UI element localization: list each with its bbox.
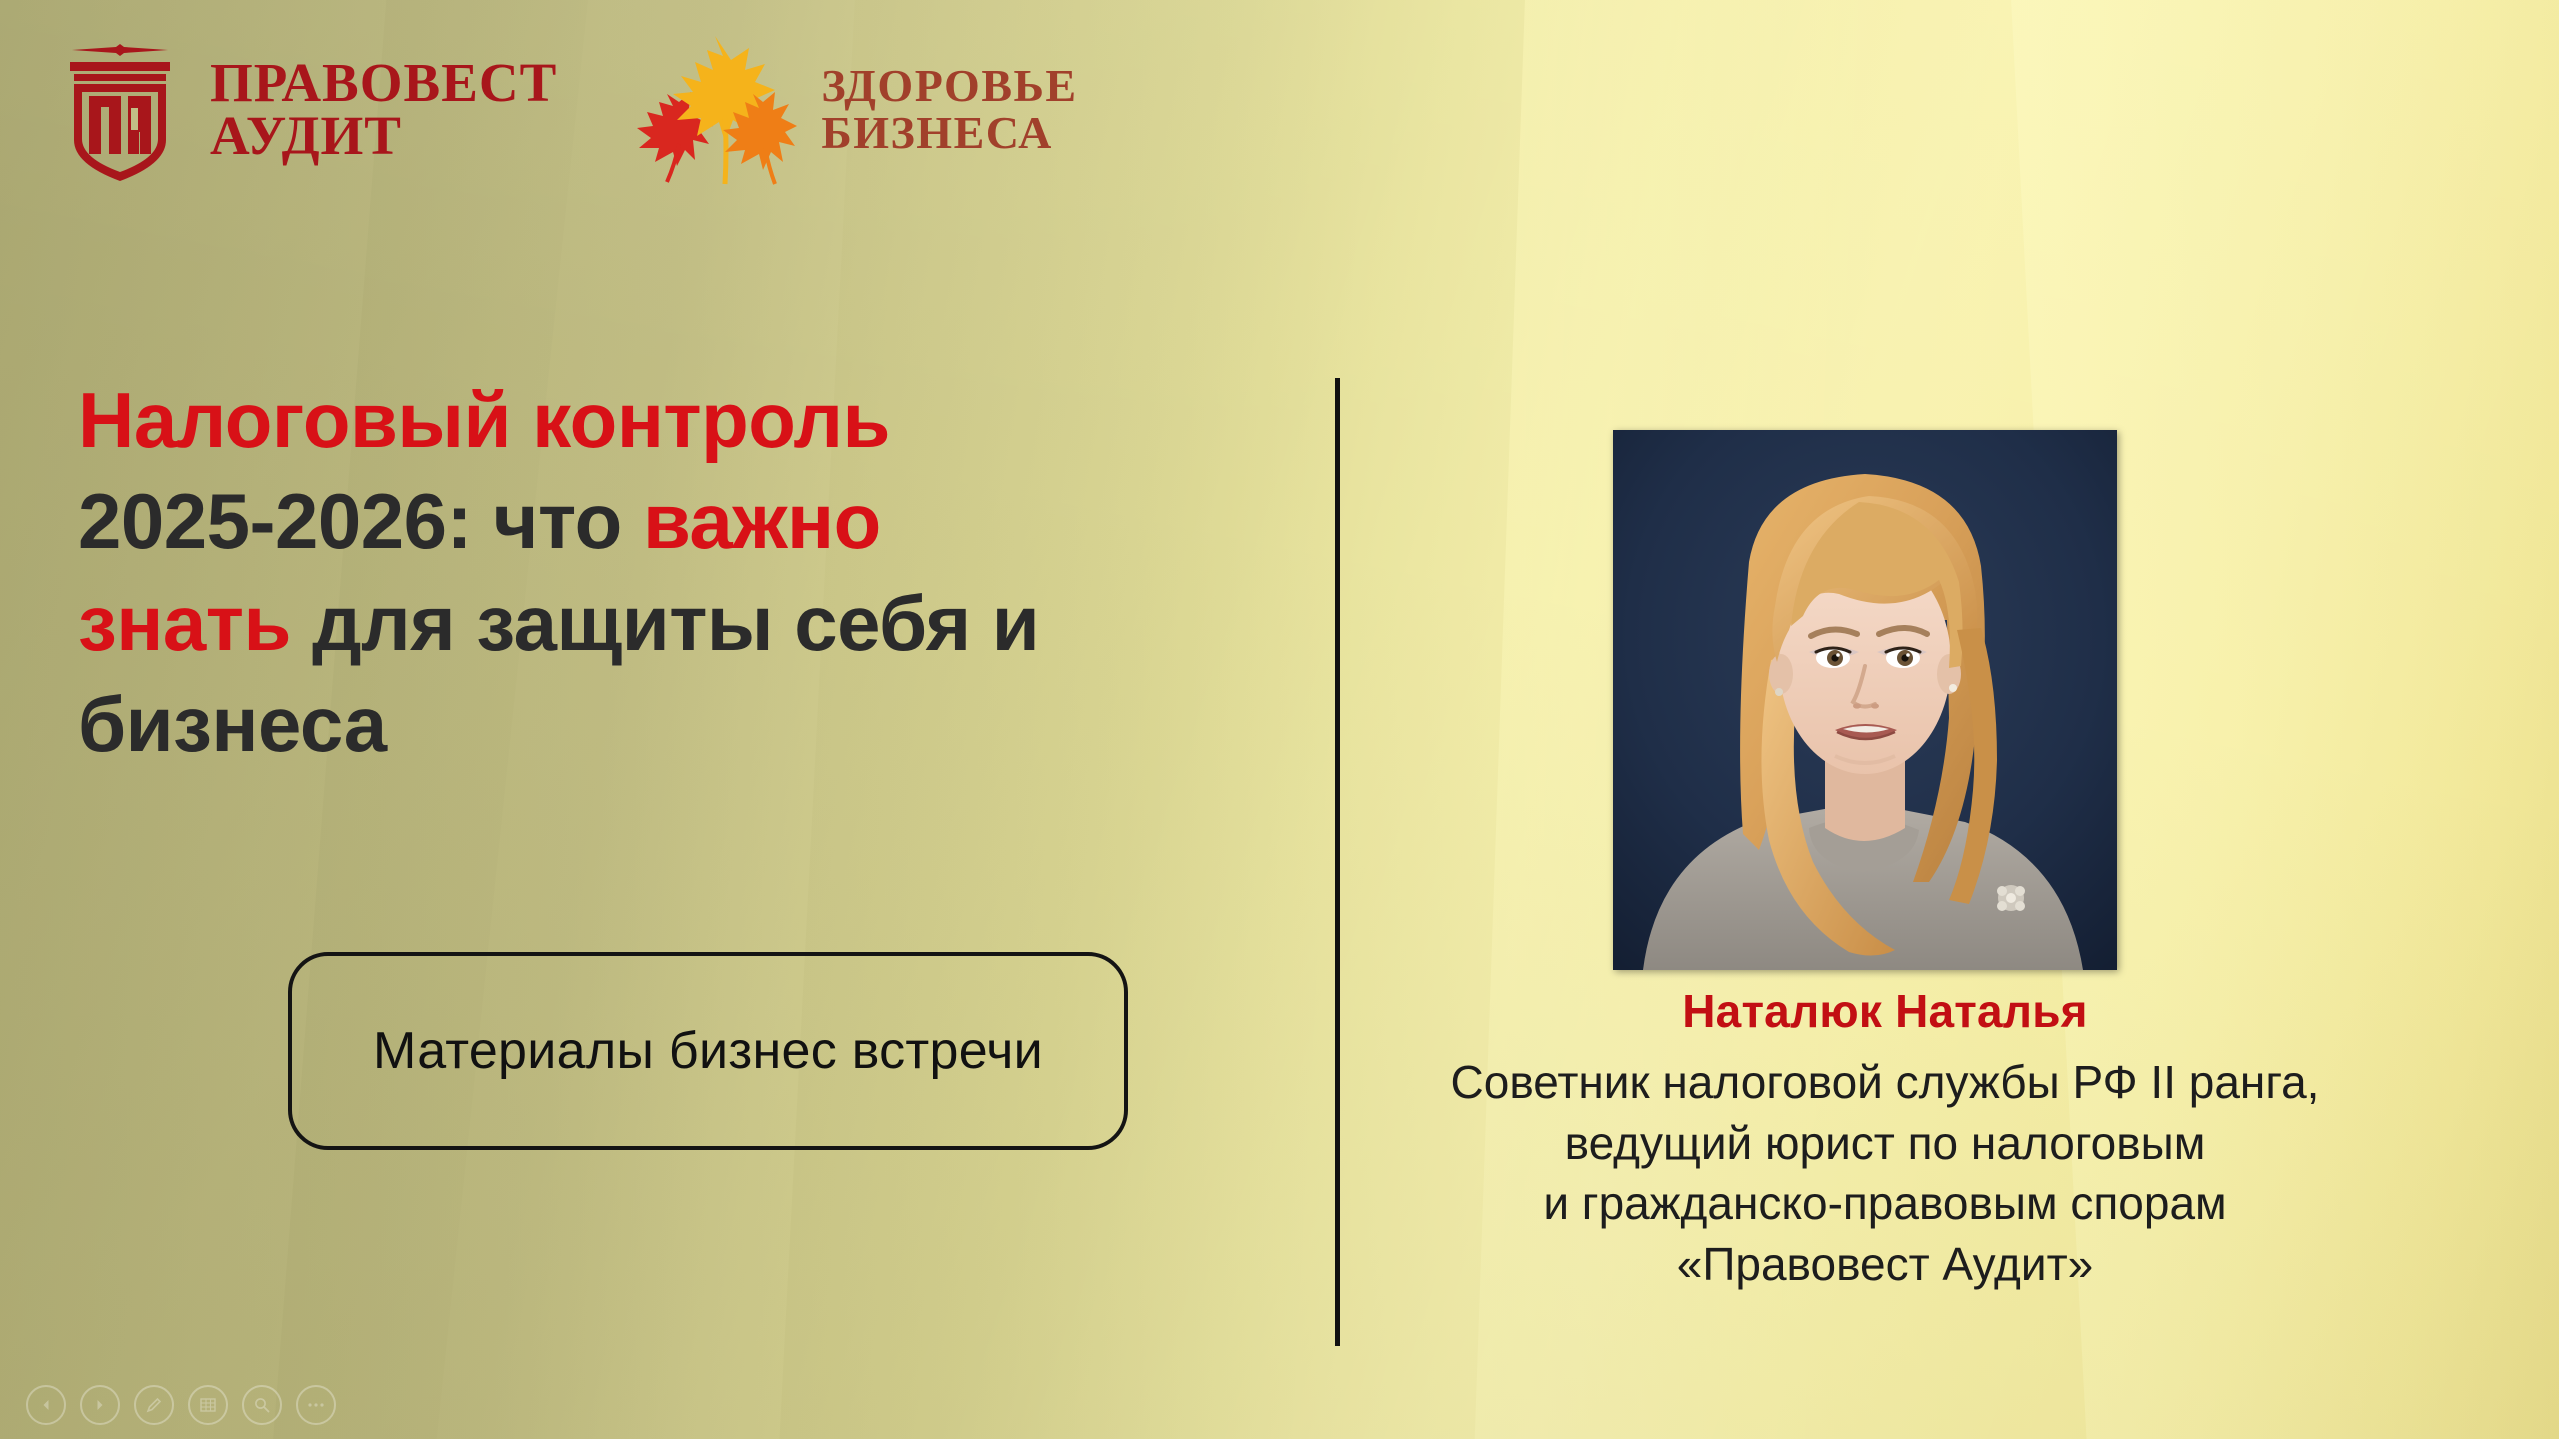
title-line-2-text: 2025-2026: что bbox=[78, 477, 643, 565]
zdorovie-biznesa-logo: ЗДОРОВЬЕ БИЗНЕСА bbox=[629, 32, 1077, 188]
title-line-3-highlight: знать bbox=[78, 579, 291, 667]
presentation-controls bbox=[26, 1385, 336, 1425]
title-line-2: 2025-2026: что важно bbox=[78, 471, 1258, 572]
chevron-right-icon bbox=[93, 1398, 107, 1412]
title-line-3-text: для защиты себя и bbox=[291, 579, 1039, 667]
maple-leaves-icon bbox=[629, 32, 799, 188]
speaker-bio-line-3: и гражданско-правовым спорам bbox=[1330, 1173, 2440, 1234]
speaker-bio: Советник налоговой службы РФ II ранга, в… bbox=[1330, 1052, 2440, 1295]
speaker-bio-line-2: ведущий юрист по налоговым bbox=[1330, 1113, 2440, 1174]
grid-icon bbox=[199, 1396, 217, 1414]
materials-button-label: Материалы бизнес встречи bbox=[373, 1021, 1043, 1081]
slide-grid-button[interactable] bbox=[188, 1385, 228, 1425]
title-line-3: знать для защиты себя и bbox=[78, 573, 1258, 674]
zoom-button[interactable] bbox=[242, 1385, 282, 1425]
zdorovie-biznesa-wordmark: ЗДОРОВЬЕ БИЗНЕСА bbox=[821, 63, 1077, 157]
presentation-slide: ПРАВОВЕСТ АУДИТ bbox=[0, 0, 2559, 1439]
shield-columns-icon bbox=[56, 36, 184, 184]
next-slide-button[interactable] bbox=[80, 1385, 120, 1425]
ellipsis-icon bbox=[307, 1402, 325, 1408]
brand2-line-2: БИЗНЕСА bbox=[821, 110, 1077, 157]
logo-row: ПРАВОВЕСТ АУДИТ bbox=[56, 32, 1078, 188]
title-line-2-highlight: важно bbox=[643, 477, 881, 565]
title-line-4-text: бизнеса bbox=[78, 680, 387, 768]
title-line-1: Налоговый контроль bbox=[78, 370, 1258, 471]
magnifier-icon bbox=[253, 1396, 271, 1414]
title-line-1-text: Налоговый контроль bbox=[78, 376, 890, 464]
pravovest-audit-logo: ПРАВОВЕСТ АУДИТ bbox=[56, 36, 557, 184]
chevron-left-icon bbox=[39, 1398, 53, 1412]
title-line-4: бизнеса bbox=[78, 674, 1258, 775]
speaker-bio-line-4: «Правовест Аудит» bbox=[1330, 1234, 2440, 1295]
speaker-photo bbox=[1613, 430, 2117, 970]
more-options-button[interactable] bbox=[296, 1385, 336, 1425]
brand2-line-1: ЗДОРОВЬЕ bbox=[821, 63, 1077, 110]
slide-title: Налоговый контроль 2025-2026: что важно … bbox=[78, 370, 1258, 776]
pravovest-audit-wordmark: ПРАВОВЕСТ АУДИТ bbox=[210, 57, 557, 163]
brand-line-2: АУДИТ bbox=[210, 110, 557, 163]
speaker-bio-line-1: Советник налоговой службы РФ II ранга, bbox=[1330, 1052, 2440, 1113]
speaker-name: Наталюк Наталья bbox=[1340, 984, 2430, 1038]
pen-icon bbox=[145, 1396, 163, 1414]
previous-slide-button[interactable] bbox=[26, 1385, 66, 1425]
pen-tool-button[interactable] bbox=[134, 1385, 174, 1425]
brand-line-1: ПРАВОВЕСТ bbox=[210, 57, 557, 110]
materials-button[interactable]: Материалы бизнес встречи bbox=[288, 952, 1128, 1150]
